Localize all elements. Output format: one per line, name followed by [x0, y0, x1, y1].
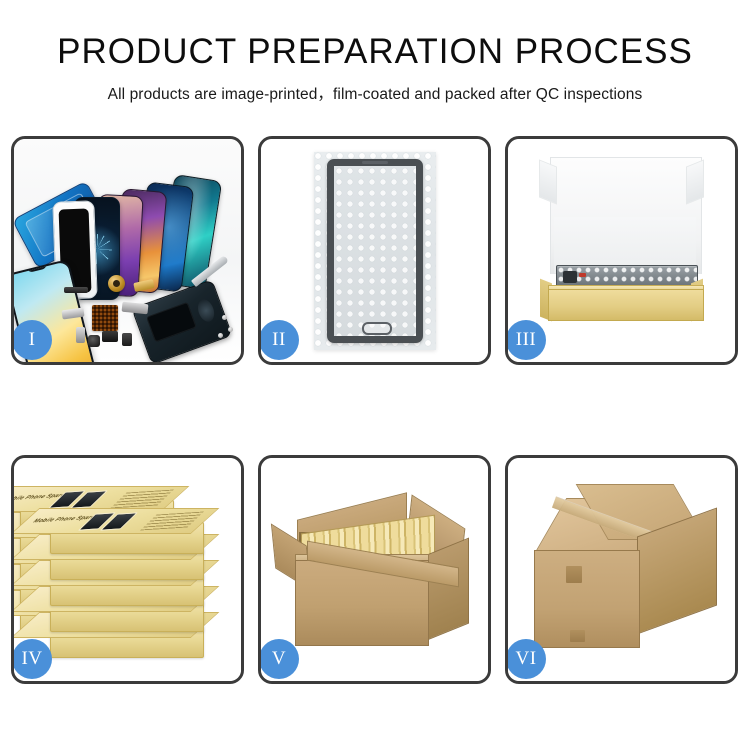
process-step-grid: I II III [11, 136, 739, 684]
box-flap-left [539, 159, 557, 204]
step-badge-3: III [506, 320, 546, 360]
sealed-carton-front-panel [534, 550, 640, 648]
button-component [76, 327, 85, 343]
carton-side-right [427, 538, 469, 641]
step-badge-4: IV [12, 639, 52, 679]
retail-box-stack: Mobile Phone Spare Parts [20, 486, 238, 666]
process-step-panel-1[interactable]: I [11, 136, 244, 365]
page-title: PRODUCT PREPARATION PROCESS [0, 34, 750, 71]
process-step-panel-6[interactable]: VI [505, 455, 738, 684]
screw-2 [228, 327, 233, 332]
step-badge-5: V [259, 639, 299, 679]
step-badge-6: VI [506, 639, 546, 679]
process-step-panel-4[interactable]: Mobile Phone Spare Parts [11, 455, 244, 684]
box-front-panel [548, 289, 704, 321]
screw-3 [218, 333, 223, 338]
step-badge-2: II [259, 320, 299, 360]
page-subtitle: All products are image-printed，film-coat… [0, 82, 750, 104]
circuit-grid-component [92, 305, 118, 331]
camera-module [88, 335, 100, 347]
box-flap-right [686, 159, 704, 204]
process-step-panel-5[interactable]: V [258, 455, 491, 684]
retail-box-lid: Mobile Phone Spare Parts [14, 508, 219, 534]
wrapped-phone-screen [327, 159, 423, 343]
module-component-2 [122, 333, 132, 346]
speaker-component [64, 287, 88, 293]
retail-box-top-front: Mobile Phone Spare Parts [50, 522, 204, 554]
screw-1 [222, 315, 227, 320]
process-step-panel-3[interactable]: III [505, 136, 738, 365]
box-spec-text-lines [110, 489, 174, 508]
box-spec-text-lines [140, 511, 204, 530]
module-component-1 [102, 331, 118, 342]
carton-corner-mark-bottom [570, 630, 585, 642]
carton-corner-mark-top [566, 566, 582, 583]
copper-coil-component [108, 275, 125, 292]
step-badge-1: I [12, 320, 52, 360]
page-header: PRODUCT PREPARATION PROCESS All products… [0, 0, 750, 104]
process-step-panel-2[interactable]: II [258, 136, 491, 365]
